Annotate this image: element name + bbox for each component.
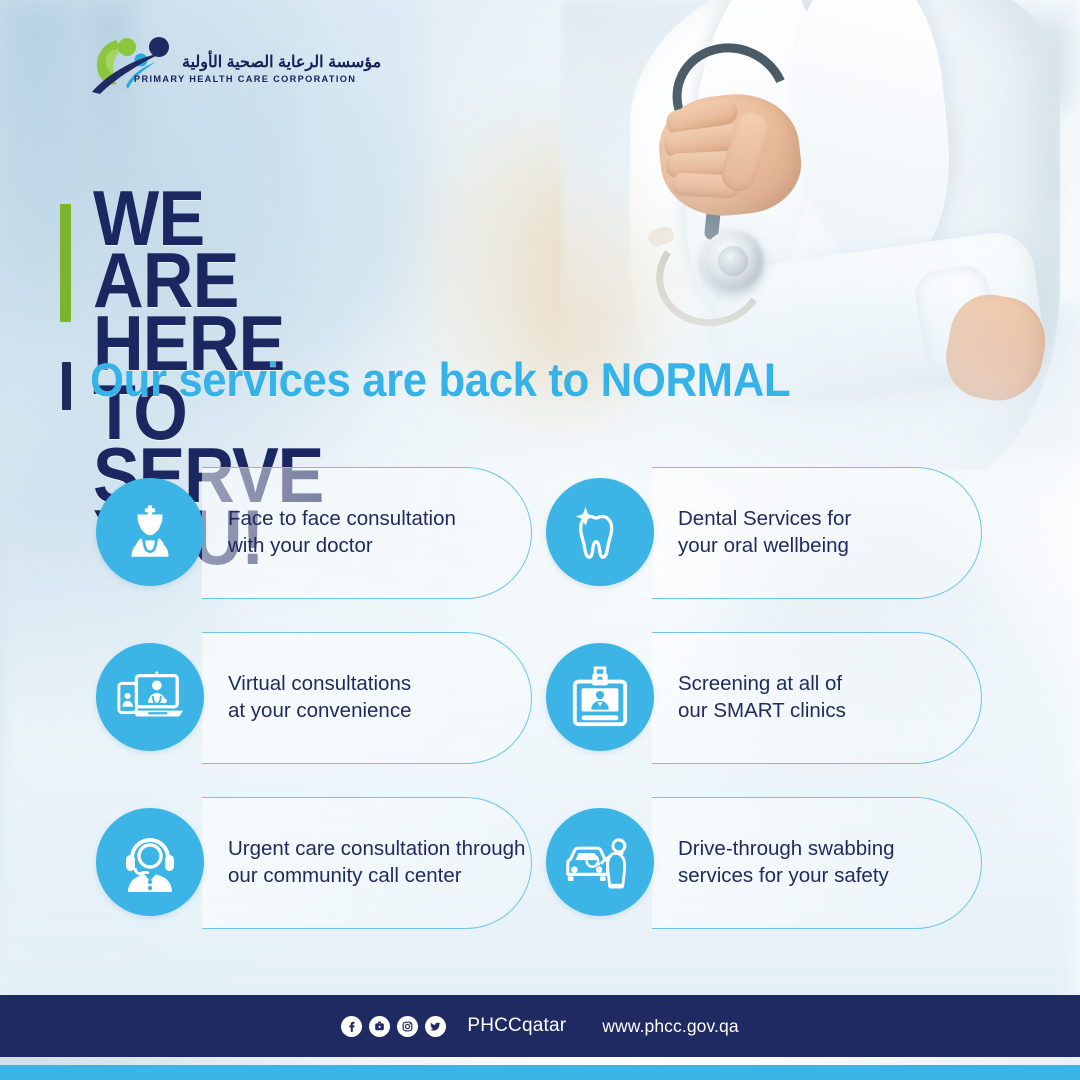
logo-english-text: PRIMARY HEALTH CARE CORPORATION (134, 74, 356, 84)
services-row: Urgent care consultation through our com… (96, 792, 1002, 957)
service-label: Face to face consultation with your doct… (228, 506, 528, 559)
phcc-logo: مؤسسة الرعاية الصحية الأولية PRIMARY HEA… (86, 34, 306, 124)
poster-canvas: مؤسسة الرعاية الصحية الأولية PRIMARY HEA… (0, 0, 1080, 1080)
drive-through-swab-icon (546, 808, 654, 916)
services-row: Virtual consultations at your convenienc… (96, 627, 1002, 792)
service-label-line1: Drive-through swabbing (678, 836, 978, 863)
headline-accent-bar (60, 204, 71, 322)
instagram-icon[interactable] (397, 1016, 418, 1037)
service-label-line2: our community call center (228, 863, 528, 890)
subheadline: Our services are back to NORMAL (90, 352, 790, 407)
service-label-line2: your oral wellbeing (678, 533, 978, 560)
service-item-dental[interactable]: Dental Services for your oral wellbeing (546, 462, 994, 604)
logo-arabic-text: مؤسسة الرعاية الصحية الأولية (182, 52, 381, 72)
doctor-icon (96, 478, 204, 586)
service-item-screening[interactable]: Screening at all of our SMART clinics (546, 627, 994, 769)
service-label-line1: Dental Services for (678, 506, 978, 533)
footer-divider (0, 1057, 1080, 1065)
service-item-virtual[interactable]: Virtual consultations at your convenienc… (96, 627, 544, 769)
service-label-line2: at your convenience (228, 698, 528, 725)
logo-mark-icon (86, 34, 178, 96)
service-item-face-to-face[interactable]: Face to face consultation with your doct… (96, 462, 544, 604)
subheadline-accent-bar (62, 362, 71, 410)
services-list: Face to face consultation with your doct… (96, 462, 1002, 957)
footer-bar: PHCCqatar www.phcc.gov.qa (0, 995, 1080, 1057)
services-row: Face to face consultation with your doct… (96, 462, 1002, 627)
footer-cyan-strip (0, 1065, 1080, 1080)
service-label-line2: with your doctor (228, 533, 528, 560)
service-label: Screening at all of our SMART clinics (678, 671, 978, 724)
telehealth-icon (96, 643, 204, 751)
tooth-icon (546, 478, 654, 586)
service-label: Urgent care consultation through our com… (228, 836, 528, 889)
id-badge-icon (546, 643, 654, 751)
service-label-line2: our SMART clinics (678, 698, 978, 725)
service-item-drive-through[interactable]: Drive-through swabbing services for your… (546, 792, 994, 934)
service-label-line1: Face to face consultation (228, 506, 528, 533)
social-handle: PHCCqatar (467, 1015, 566, 1037)
service-label: Drive-through swabbing services for your… (678, 836, 978, 889)
service-label: Virtual consultations at your convenienc… (228, 671, 528, 724)
website-url[interactable]: www.phcc.gov.qa (602, 1016, 738, 1037)
social-links (341, 1016, 446, 1037)
service-item-call-center[interactable]: Urgent care consultation through our com… (96, 792, 544, 934)
service-label-line1: Screening at all of (678, 671, 978, 698)
footer: PHCCqatar www.phcc.gov.qa (0, 995, 1080, 1080)
service-label-line2: services for your safety (678, 863, 978, 890)
service-label-line1: Virtual consultations (228, 671, 528, 698)
headset-agent-icon (96, 808, 204, 916)
twitter-icon[interactable] (425, 1016, 446, 1037)
youtube-icon[interactable] (369, 1016, 390, 1037)
service-label: Dental Services for your oral wellbeing (678, 506, 978, 559)
facebook-icon[interactable] (341, 1016, 362, 1037)
service-label-line1: Urgent care consultation through (228, 836, 528, 863)
